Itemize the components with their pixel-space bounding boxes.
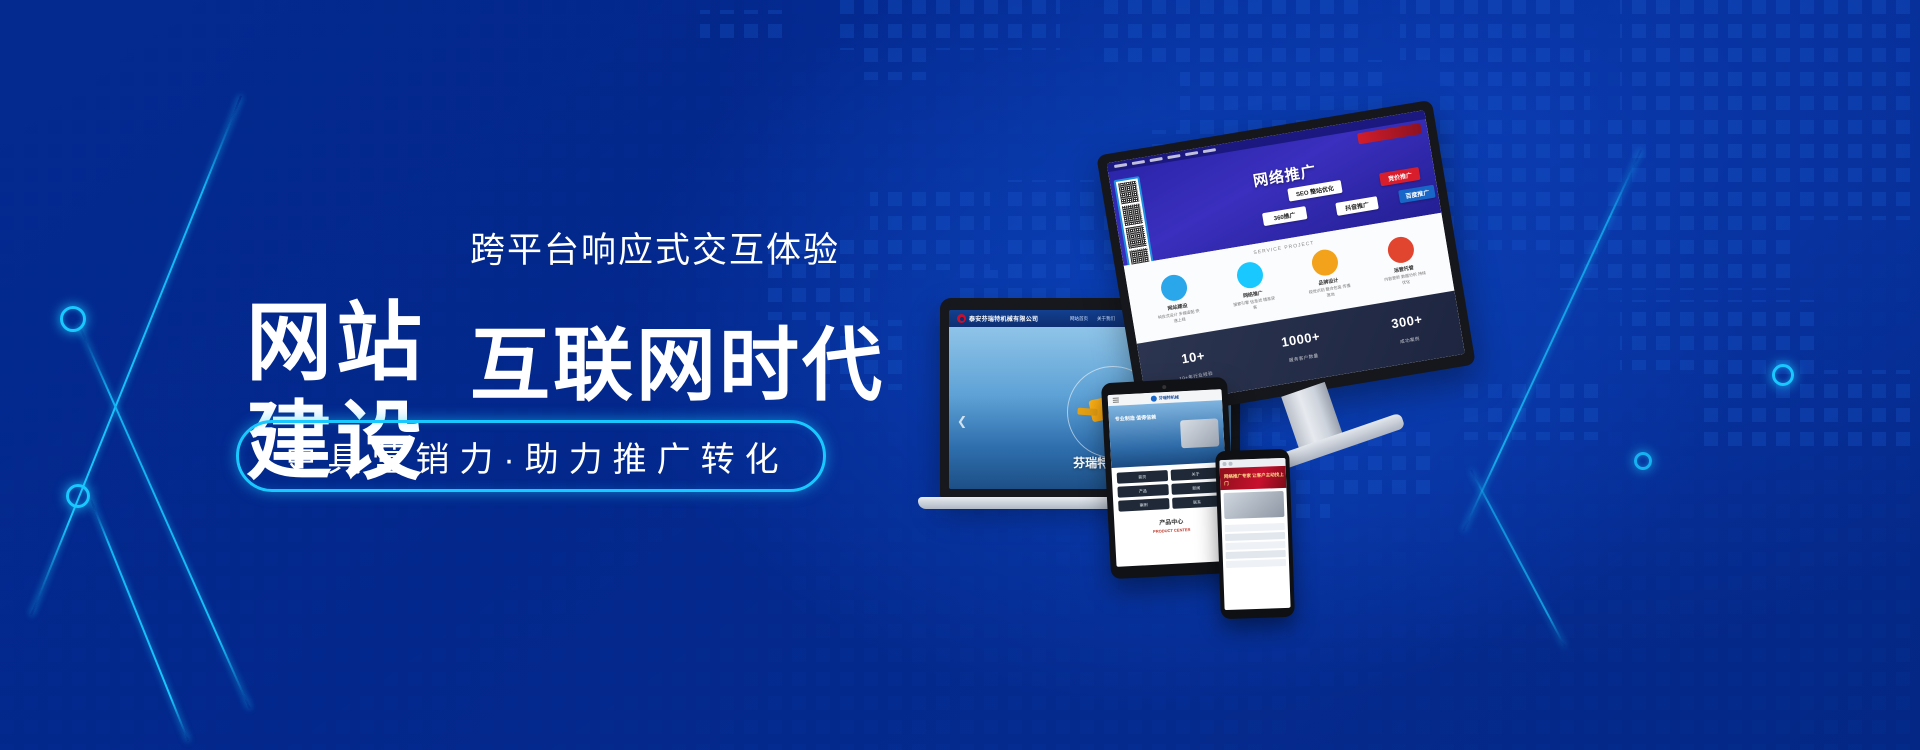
phone-row-2[interactable] — [1225, 541, 1285, 550]
tablet-menu-item-4[interactable]: 案例 — [1118, 498, 1169, 512]
monitor-chip-1[interactable]: 竞价推广 — [1379, 167, 1421, 186]
hamburger-menu-icon[interactable] — [1113, 398, 1119, 403]
tablet-site-logo: 芬瑞特机械 — [1151, 394, 1179, 401]
stat-label-2: 成功案例 — [1400, 336, 1421, 344]
laptop-nav-item-1[interactable]: 关于我们 — [1097, 316, 1115, 322]
monitor-stat-1: 1000+ 服务客户数量 — [1280, 329, 1324, 368]
monitor-nav-item-0[interactable] — [1114, 163, 1127, 168]
headline-line-1: 网站 — [246, 295, 426, 391]
page-title: 网站 建设 — [246, 212, 426, 575]
monitor-chip-3[interactable]: 抖音推广 — [1335, 196, 1379, 216]
phone-screen: 网络推广专家 让客户主动找上门 — [1219, 458, 1290, 610]
phone-content-rows — [1222, 520, 1290, 571]
monitor-nav-item-1[interactable] — [1132, 160, 1145, 165]
hero-copy: 网站 建设 跨平台响应式交互体验 互联网时代 — [246, 212, 886, 575]
tablet-product-image — [1180, 418, 1219, 448]
status-dot-icon-1 — [1228, 462, 1232, 466]
slider-prev-icon[interactable]: ❮ — [957, 414, 967, 428]
tablet-menu-label-0: 首页 — [1138, 474, 1146, 480]
hero-subtitle: 跨平台响应式交互体验 — [470, 222, 885, 273]
stat-value-1: 1000+ — [1280, 329, 1321, 350]
monitor-mockup: 网络推广 SEO 整站优化 竞价推广 360推广 抖音推广 百度推广 SERVI… — [1096, 100, 1476, 420]
phone-row-1[interactable] — [1225, 532, 1285, 541]
laptop-site-logo: 泰安芬瑞特机械有限公司 — [957, 314, 1038, 323]
monitor-service-card-2[interactable]: 品牌设计 视觉识别 整合包装 传播落地 — [1300, 246, 1353, 302]
monitor-service-card-0[interactable]: 网站建设 响应式设计 多端适配 快速上线 — [1149, 271, 1202, 327]
monitor-nav-item-5[interactable] — [1203, 148, 1216, 153]
monitor-chip-2[interactable]: 360推广 — [1262, 206, 1308, 226]
hero-banner: 网站 建设 跨平台响应式交互体验 互联网时代 更具营销力·助力推广转化 泰安芬瑞… — [0, 0, 1920, 750]
logo-mark-icon — [957, 314, 966, 323]
service-circle-icon-0 — [1159, 273, 1189, 303]
service-circle-icon-2 — [1310, 247, 1340, 277]
tablet-menu-label-4: 案例 — [1139, 502, 1147, 508]
monitor-stat-2: 300+ 成功案例 — [1390, 312, 1426, 350]
headline-secondary: 互联网时代 — [470, 301, 885, 417]
service-circle-icon-1 — [1235, 260, 1265, 290]
phone-row-0[interactable] — [1225, 523, 1285, 532]
qr-cell-2 — [1126, 225, 1147, 248]
service-circle-icon-3 — [1386, 235, 1416, 265]
tablet-logo-text: 芬瑞特机械 — [1159, 394, 1179, 401]
tablet-menu-item-5[interactable]: 联系 — [1172, 495, 1223, 509]
badge-label: 更具营销力·助力推广转化 — [273, 432, 788, 481]
tablet-menu-label-5: 联系 — [1193, 499, 1201, 505]
tablet-menu-item-2[interactable]: 产品 — [1117, 484, 1168, 498]
tablet-screen: 芬瑞特机械 专业制造 值得信赖 首页 关于 产品 新闻 案例 联系 产品中心 — [1108, 389, 1231, 567]
phone-mockup: 网络推广专家 让客户主动找上门 — [1215, 449, 1295, 619]
monitor-nav-item-3[interactable] — [1167, 154, 1180, 159]
monitor-nav-item-2[interactable] — [1149, 157, 1162, 162]
tablet-menu-label-1: 关于 — [1191, 471, 1199, 477]
phone-feature-image — [1224, 491, 1285, 519]
monitor-service-card-1[interactable]: 网络推广 搜索引擎 信息流 精准获客 — [1225, 258, 1278, 314]
qr-cell-1 — [1122, 203, 1143, 226]
tablet-footer-title: 产品中心 — [1159, 519, 1183, 526]
phone-row-3[interactable] — [1226, 550, 1286, 559]
laptop-company-name: 泰安芬瑞特机械有限公司 — [969, 314, 1038, 323]
status-badge: 更具营销力·助力推广转化 — [236, 420, 826, 492]
tablet-menu-item-0[interactable]: 首页 — [1117, 470, 1168, 484]
tablet-menu-label-2: 产品 — [1139, 488, 1147, 494]
stat-label-1: 服务客户数量 — [1289, 353, 1319, 363]
stat-value-2: 300+ — [1390, 312, 1423, 332]
tablet-menu-item-1[interactable]: 关于 — [1170, 467, 1221, 481]
tablet-hero: 专业制造 值得信赖 — [1108, 400, 1225, 468]
status-dot-icon-0 — [1222, 462, 1226, 466]
qr-cell-0 — [1118, 181, 1139, 204]
device-mockup-cluster: 泰安芬瑞特机械有限公司 网站首页 关于我们 产品中心 新闻资讯 服务支持 公司实… — [1060, 120, 1900, 640]
tablet-menu-label-3: 新闻 — [1192, 485, 1200, 491]
phone-row-4[interactable] — [1226, 559, 1286, 568]
monitor-service-card-3[interactable]: 运营托管 内容更新 数据分析 持续优化 — [1376, 233, 1429, 289]
monitor-screen: 网络推广 SEO 整站优化 竞价推广 360推广 抖音推广 百度推广 SERVI… — [1107, 110, 1465, 407]
monitor-nav-item-4[interactable] — [1185, 151, 1198, 156]
logo-dot-icon — [1151, 395, 1157, 401]
tablet-menu-grid: 首页 关于 产品 新闻 案例 联系 — [1111, 462, 1227, 517]
monitor-chip-4[interactable]: 百度推广 — [1398, 184, 1436, 203]
tablet-menu-item-3[interactable]: 新闻 — [1171, 481, 1222, 495]
tablet-hero-text: 专业制造 值得信赖 — [1115, 414, 1157, 425]
phone-promo-banner: 网络推广专家 让客户主动找上门 — [1220, 466, 1287, 490]
phone-banner-text: 网络推广专家 让客户主动找上门 — [1224, 471, 1286, 488]
stat-value-0: 10+ — [1175, 347, 1211, 367]
laptop-nav-item-0[interactable]: 网站首页 — [1070, 316, 1088, 322]
tablet-footer-sub: PRODUCT CENTER — [1115, 525, 1229, 536]
